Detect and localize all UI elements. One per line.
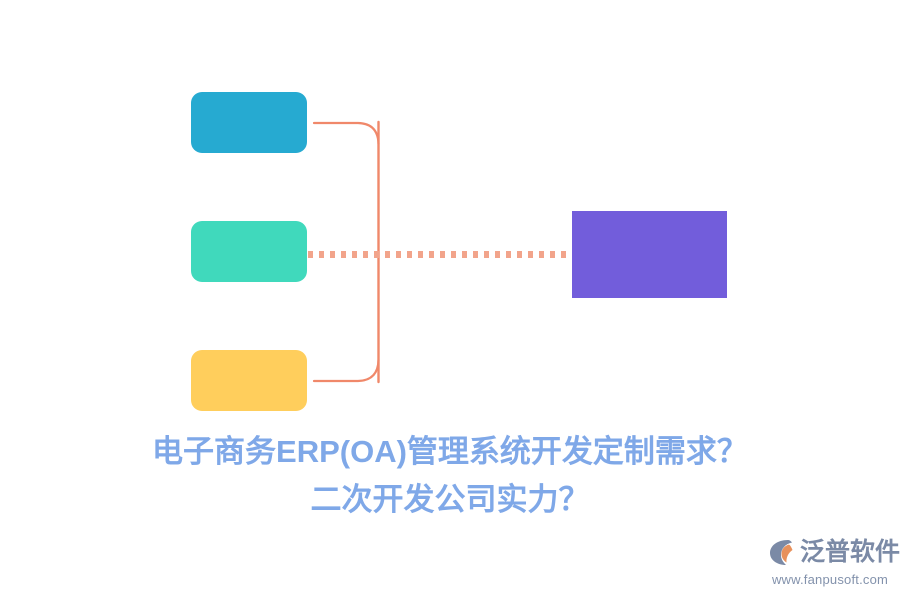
fanpu-logo-icon	[766, 536, 798, 568]
diagram-node-blue[interactable]	[191, 92, 307, 153]
diagram-node-yellow[interactable]	[191, 350, 307, 411]
brand-row: 泛普软件	[766, 534, 894, 570]
connector-yellow-to-trunk-icon	[314, 360, 379, 381]
brand-watermark: 泛普软件 www.fanpusoft.com	[766, 534, 894, 592]
diagram-node-green[interactable]	[191, 221, 307, 282]
headline-line-1: 电子商务ERP(OA)管理系统开发定制需求？	[0, 428, 900, 476]
diagram-connectors	[0, 0, 900, 430]
brand-url: www.fanpusoft.com	[766, 571, 894, 589]
connector-blue-to-trunk-icon	[314, 123, 379, 144]
diagram-node-purple[interactable]	[572, 211, 727, 298]
headline-line-2: 二次开发公司实力？	[0, 476, 900, 524]
brand-name: 泛普软件	[800, 536, 900, 568]
headline: 电子商务ERP(OA)管理系统开发定制需求？ 二次开发公司实力？	[0, 428, 900, 524]
screenshot-canvas: 电子商务ERP(OA)管理系统开发定制需求？ 二次开发公司实力？ 泛普软件 ww…	[0, 0, 900, 600]
